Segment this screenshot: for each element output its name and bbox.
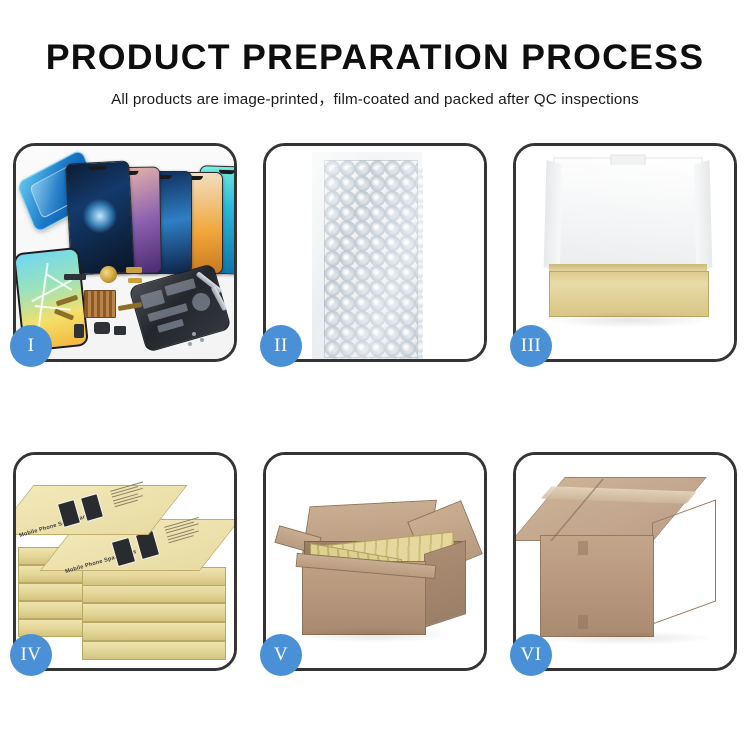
step-panel-4: Mobile Phone Spare Parts Mobile Phone Sp… [13,452,237,671]
retail-box-stack-item [82,603,226,622]
kraft-inner-tray [549,271,709,317]
white-box-lid [551,157,706,276]
kraft-tray-lip [549,264,707,271]
screw-3 [188,342,192,346]
step-panel-5: V [263,452,487,671]
retail-box-stack-item [82,641,226,660]
page-title: PRODUCT PREPARATION PROCESS [0,0,750,78]
step-image-5 [266,455,484,668]
carton-right-side [424,540,466,628]
phone-lineup [68,154,234,274]
carton-front-tab-top [578,541,588,555]
step-panel-2: II [263,143,487,362]
header: PRODUCT PREPARATION PROCESS All products… [0,0,750,109]
sealed-carton-front-face [540,535,654,637]
step-panel-1: I [13,143,237,362]
earpiece-speaker-part [64,274,86,280]
step-image-6 [516,455,734,668]
step-badge-3: III [510,325,552,367]
step-image-2 [266,146,484,359]
carton-front-tab-bottom [578,615,588,629]
step-image-4: Mobile Phone Spare Parts Mobile Phone Sp… [16,455,234,668]
flex-cable-part-2 [128,278,142,283]
retail-box-stack-item [82,622,226,641]
step-badge-1: I [10,325,52,367]
steps-grid: I II [13,143,737,683]
step-badge-2: II [260,325,302,367]
screw-2 [200,338,204,342]
vibration-motor-part [94,322,110,334]
screw-tray-part [84,290,116,318]
step-panel-6: VI [513,452,737,671]
product-preparation-infographic: PRODUCT PREPARATION PROCESS All products… [0,0,750,750]
sim-tray-part [74,324,84,338]
flex-cable-part-1 [126,267,142,273]
step-image-1 [16,146,234,359]
step-image-3 [516,146,734,359]
step-badge-4: IV [10,634,52,676]
bubble-wrap-highlight [312,152,422,359]
retail-box-stack-item [82,584,226,603]
screw-1 [192,332,196,336]
step-panel-3: III [513,143,737,362]
page-subtitle: All products are image-printed，film-coat… [0,78,750,109]
speaker-coil-part [100,266,117,283]
step-badge-5: V [260,634,302,676]
step-badge-6: VI [510,634,552,676]
camera-module-part [114,326,126,335]
